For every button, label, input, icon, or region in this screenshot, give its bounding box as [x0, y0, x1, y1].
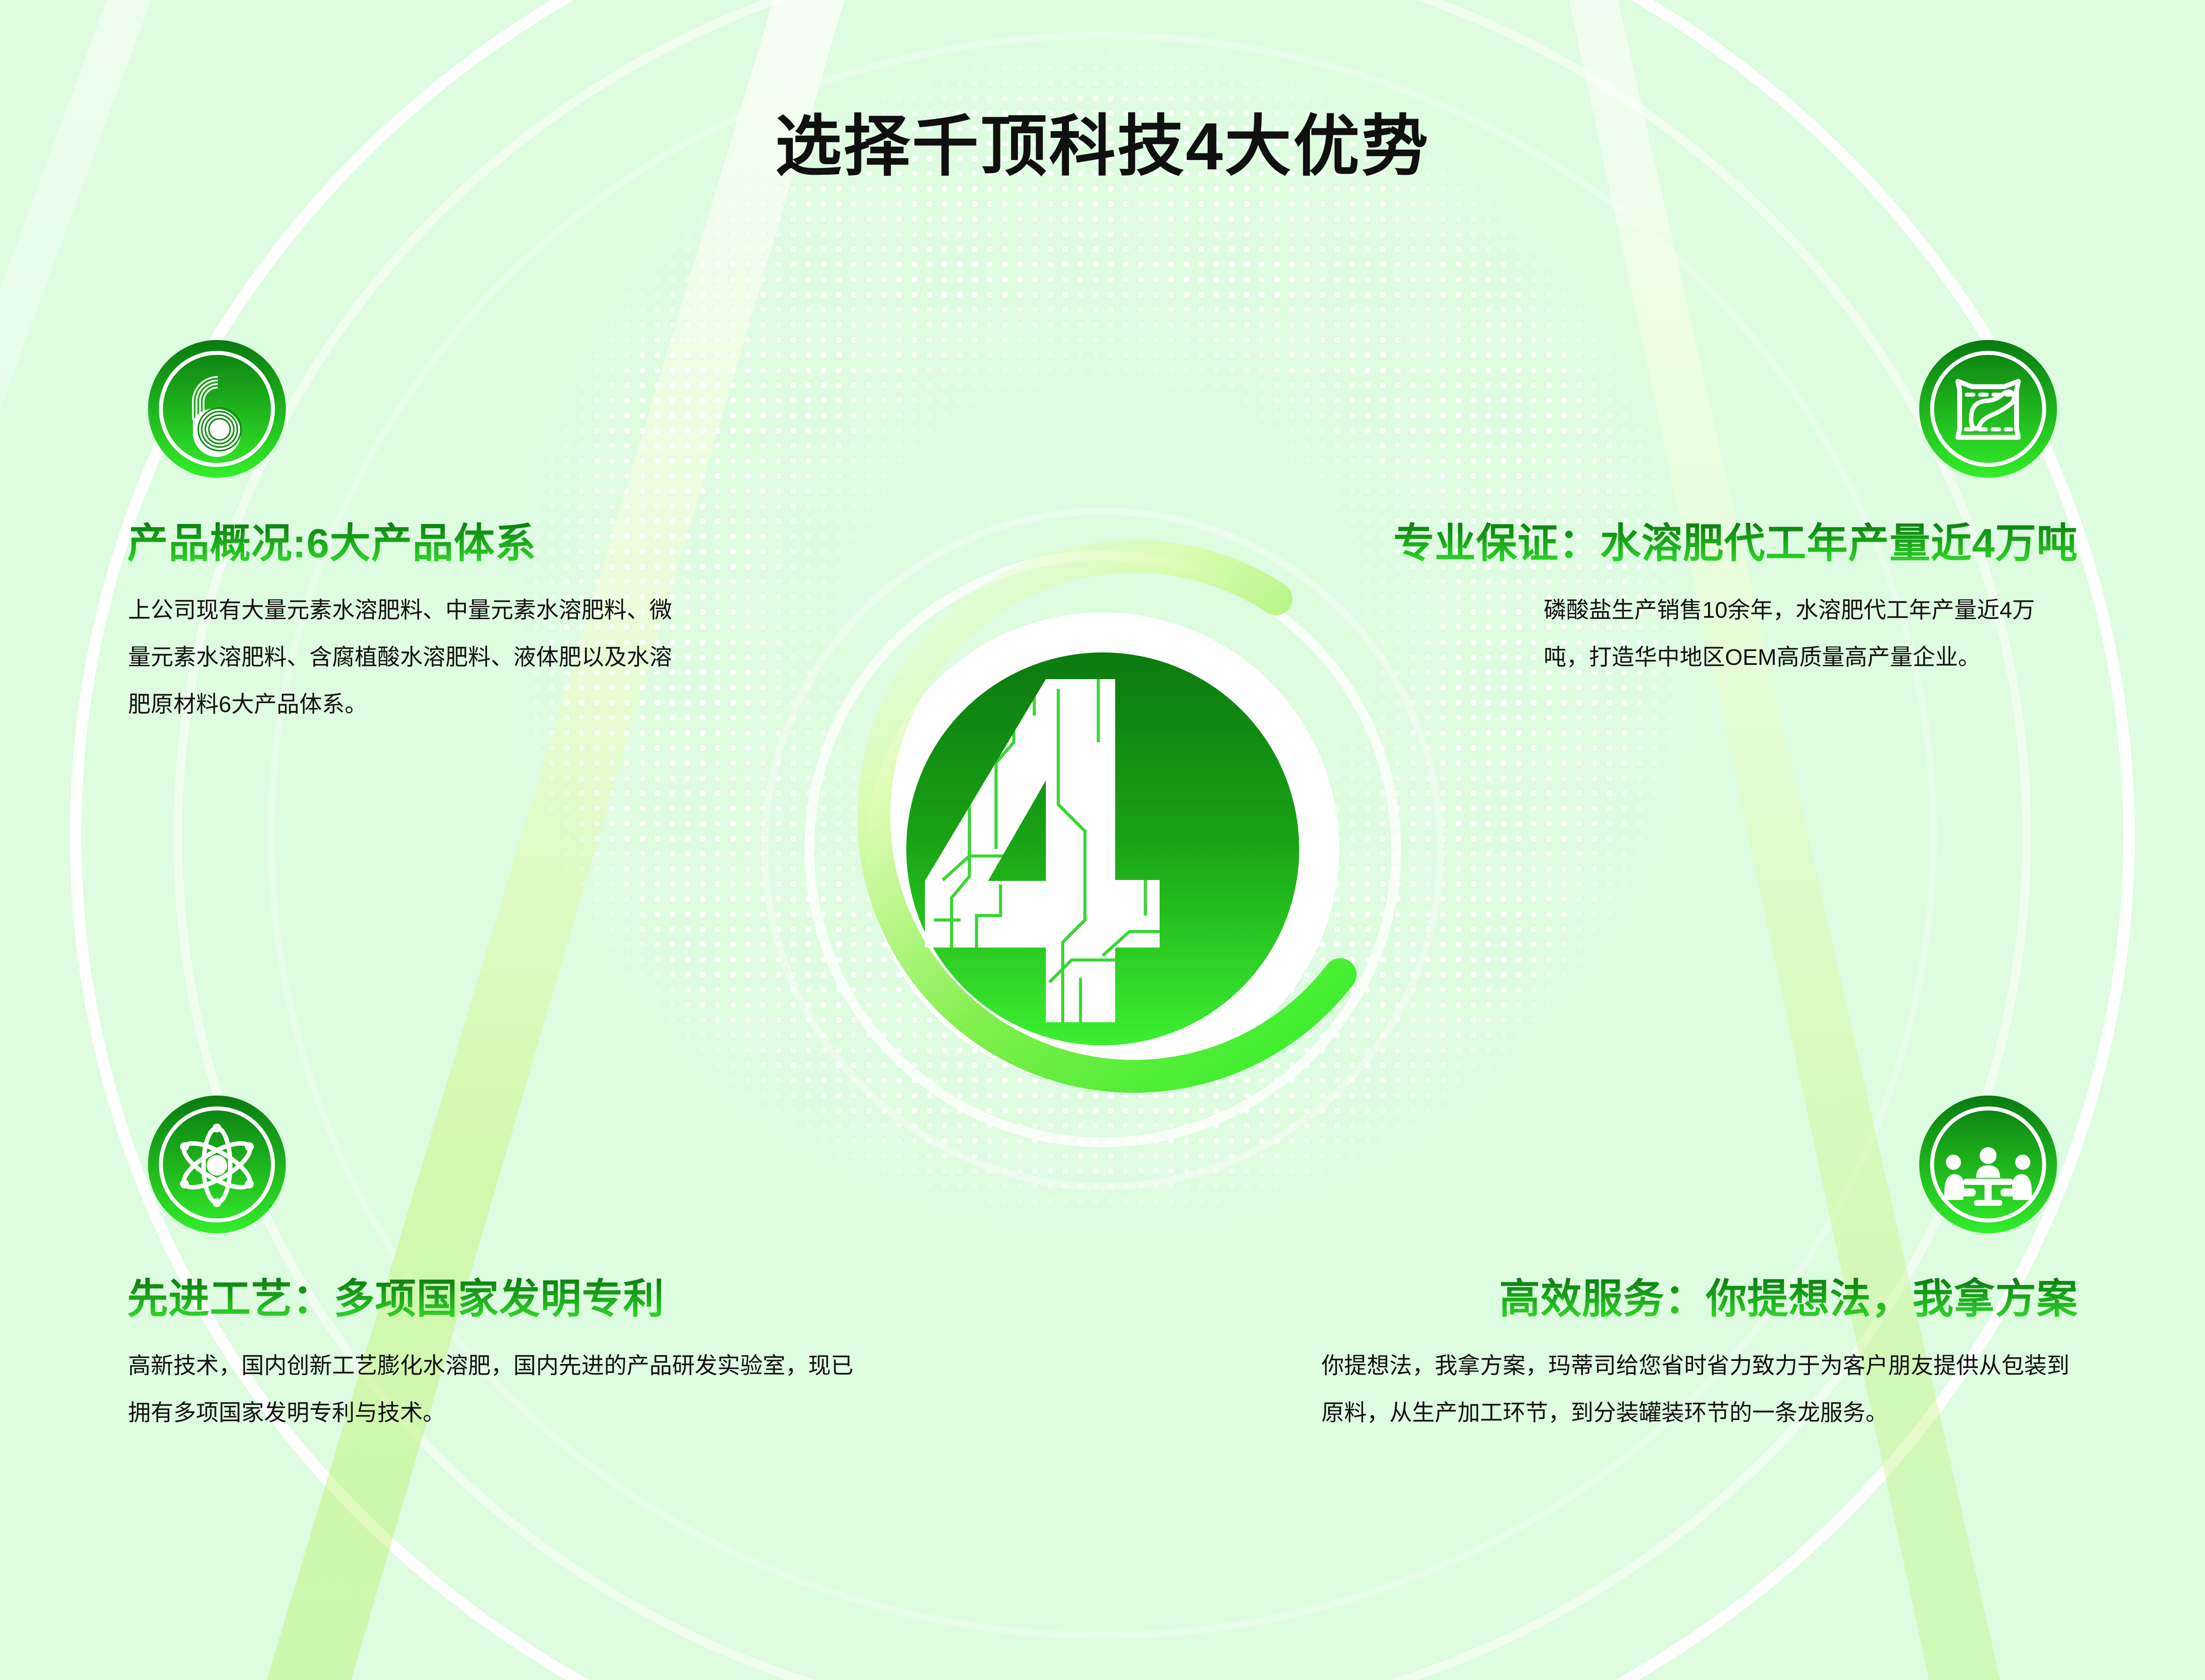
badge-advanced-process — [146, 1093, 288, 1236]
atom-icon — [146, 1093, 288, 1236]
body-advanced-process: 高新技术，国内创新工艺膨化水溶肥，国内先进的产品研发实验室，现已拥有多项国家发明… — [128, 1342, 875, 1436]
six-rings-icon — [146, 338, 288, 480]
body-product-overview: 上公司现有大量元素水溶肥料、中量元素水溶肥料、微量元素水溶肥料、含腐植酸水溶肥料… — [128, 587, 675, 728]
badge-efficient-service — [1917, 1093, 2059, 1236]
heading-product-overview: 产品概况:6大产品体系 — [127, 521, 536, 567]
body-professional-guarantee: 磷酸盐生产销售10余年，水溶肥代工年产量近4万吨，打造华中地区OEM高质量高产量… — [1544, 587, 2077, 681]
body-efficient-service: 你提想法，我拿方案，玛蒂司给您省时省力致力于为客户朋友提供从包装到原料，从生产加… — [1321, 1342, 2077, 1436]
badge-product-overview — [146, 338, 288, 480]
heading-professional-guarantee: 专业保证：水溶肥代工年产量近4万吨 — [1393, 521, 2078, 567]
heading-advanced-process: 先进工艺：多项国家发明专利 — [127, 1276, 664, 1322]
meeting-table-icon — [1917, 1093, 2059, 1236]
fertilizer-bag-icon — [1917, 338, 2059, 480]
badge-professional-guarantee — [1917, 338, 2059, 480]
page-title: 选择千顶科技4大优势 — [0, 92, 2205, 189]
heading-efficient-service: 高效服务：你提想法，我拿方案 — [1499, 1276, 2078, 1322]
